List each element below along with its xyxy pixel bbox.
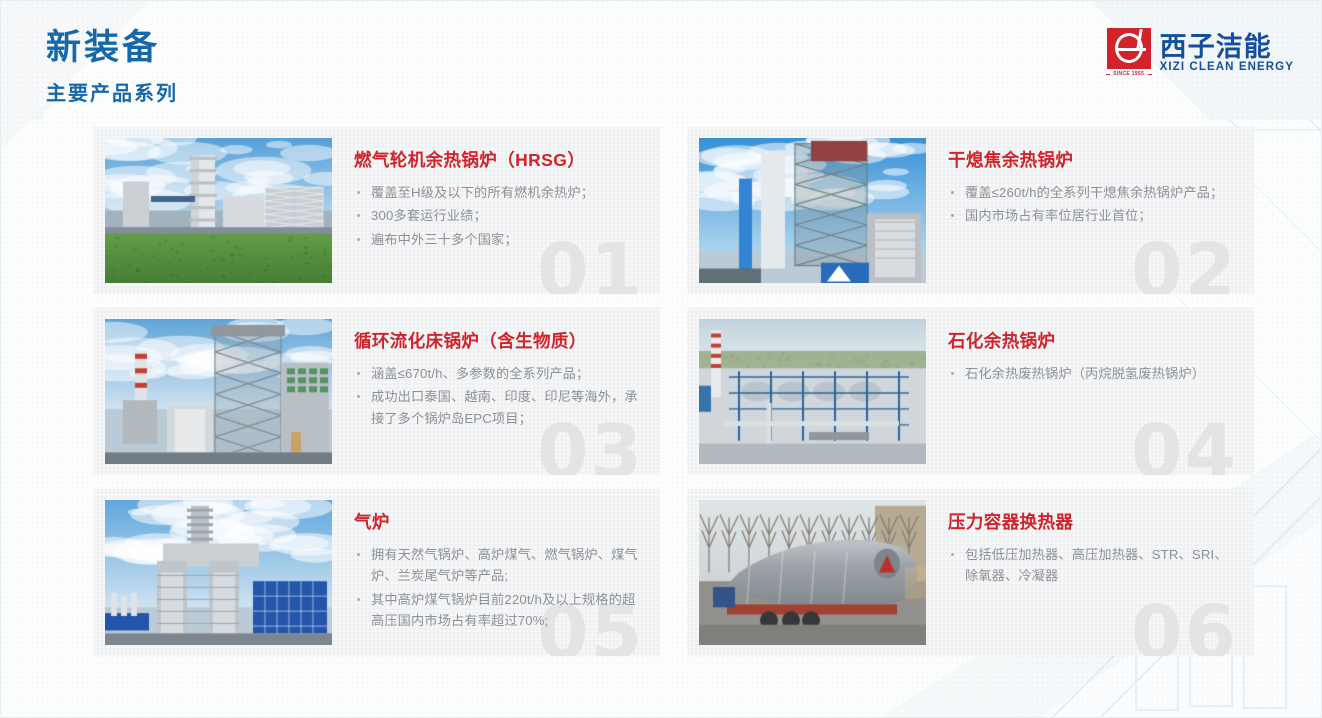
gas-fired-boiler-plant-photo[interactable] (105, 500, 332, 645)
card-bullet-list: 石化余热废热锅炉（丙烷脱氢废热锅炉） (948, 363, 1236, 386)
pressure-vessel-transport-photo[interactable] (699, 500, 926, 645)
card-bullet-list: 包括低压加热器、高压加热器、STR、SRI、除氧器、冷凝器 (948, 544, 1236, 589)
page-title: 新装备 (46, 30, 160, 65)
product-card[interactable]: 02干熄焦余热锅炉覆盖≤260t/h的全系列干熄焦余热锅炉产品；国内市场占有率位… (688, 127, 1254, 294)
card-body: 干熄焦余热锅炉覆盖≤260t/h的全系列干熄焦余热锅炉产品；国内市场占有率位居行… (926, 127, 1254, 294)
card-body: 压力容器换热器包括低压加热器、高压加热器、STR、SRI、除氧器、冷凝器 (926, 489, 1254, 656)
page-subtitle: 主要产品系列 (46, 84, 178, 104)
card-bullet-item: 石化余热废热锅炉（丙烷脱氢废热锅炉） (948, 363, 1236, 384)
coke-dry-quenching-plant-photo[interactable] (699, 138, 926, 283)
card-title: 干熄焦余热锅炉 (948, 150, 1236, 171)
card-body: 石化余热锅炉石化余热废热锅炉（丙烷脱氢废热锅炉） (926, 308, 1254, 475)
card-bullet-item: 遍布中外三十多个国家； (354, 229, 642, 250)
card-bullet-item: 国内市场占有率位居行业首位； (948, 205, 1236, 226)
card-body: 循环流化床锅炉（含生物质）涵盖≤670t/h、多参数的全系列产品；成功出口泰国、… (332, 308, 660, 475)
logo-since-text: SINCE 1955 (1107, 71, 1151, 77)
card-bullet-item: 300多套运行业绩； (354, 205, 642, 226)
product-card[interactable]: 03循环流化床锅炉（含生物质）涵盖≤670t/h、多参数的全系列产品；成功出口泰… (94, 308, 660, 475)
card-body: 燃气轮机余热锅炉（HRSG）覆盖至H级及以下的所有燃机余热炉；300多套运行业绩… (332, 127, 660, 294)
card-bullet-list: 覆盖至H级及以下的所有燃机余热炉；300多套运行业绩；遍布中外三十多个国家； (354, 182, 642, 252)
product-card[interactable]: 01燃气轮机余热锅炉（HRSG）覆盖至H级及以下的所有燃机余热炉；300多套运行… (94, 127, 660, 294)
card-bullet-list: 覆盖≤260t/h的全系列干熄焦余热锅炉产品；国内市场占有率位居行业首位； (948, 182, 1236, 229)
logo-name-en: XIZI CLEAN ENERGY (1160, 61, 1294, 75)
card-bullet-list: 涵盖≤670t/h、多参数的全系列产品；成功出口泰国、越南、印度、印尼等海外，承… (354, 363, 642, 431)
product-card[interactable]: 04石化余热锅炉石化余热废热锅炉（丙烷脱氢废热锅炉） (688, 308, 1254, 475)
card-title: 气炉 (354, 512, 642, 533)
company-logo: SINCE 1955 西子洁能 XIZI CLEAN ENERGY (1107, 28, 1294, 80)
card-bullet-list: 拥有天然气锅炉、高炉煤气、燃气锅炉、煤气炉、兰炭尾气炉等产品;其中高炉煤气锅炉目… (354, 544, 642, 634)
card-body: 气炉拥有天然气锅炉、高炉煤气、燃气锅炉、煤气炉、兰炭尾气炉等产品;其中高炉煤气锅… (332, 489, 660, 656)
slide-header: 新装备 主要产品系列 SINCE 1955 西子洁能 XIZI CLEAN EN… (0, 0, 1322, 120)
petrochemical-waste-heat-plant-photo[interactable] (699, 319, 926, 464)
gas-turbine-hrsg-plant-photo[interactable] (105, 138, 332, 283)
card-bullet-item: 拥有天然气锅炉、高炉煤气、燃气锅炉、煤气炉、兰炭尾气炉等产品; (354, 544, 642, 587)
product-card-grid: 01燃气轮机余热锅炉（HRSG）覆盖至H级及以下的所有燃机余热炉；300多套运行… (94, 127, 1254, 655)
slide: 新装备 主要产品系列 SINCE 1955 西子洁能 XIZI CLEAN EN… (0, 0, 1322, 718)
card-title: 燃气轮机余热锅炉（HRSG） (354, 150, 642, 171)
logo-wordmark: 西子洁能 XIZI CLEAN ENERGY (1160, 33, 1294, 75)
card-bullet-item: 其中高炉煤气锅炉目前220t/h及以上规格的超高压国内市场占有率超过70%; (354, 589, 642, 632)
product-card[interactable]: 06压力容器换热器包括低压加热器、高压加热器、STR、SRI、除氧器、冷凝器 (688, 489, 1254, 656)
card-bullet-item: 涵盖≤670t/h、多参数的全系列产品； (354, 363, 642, 384)
logo-e-monogram-icon (1115, 33, 1143, 63)
card-bullet-item: 覆盖至H级及以下的所有燃机余热炉； (354, 182, 642, 203)
logo-name-cn: 西子洁能 (1160, 33, 1294, 61)
card-bullet-item: 成功出口泰国、越南、印度、印尼等海外，承接了多个锅炉岛EPC项目； (354, 386, 642, 429)
cfb-boiler-plant-photo[interactable] (105, 319, 332, 464)
product-card[interactable]: 05气炉拥有天然气锅炉、高炉煤气、燃气锅炉、煤气炉、兰炭尾气炉等产品;其中高炉煤… (94, 489, 660, 656)
card-title: 压力容器换热器 (948, 512, 1236, 533)
card-bullet-item: 覆盖≤260t/h的全系列干熄焦余热锅炉产品； (948, 182, 1236, 203)
card-title: 石化余热锅炉 (948, 331, 1236, 352)
card-title: 循环流化床锅炉（含生物质） (354, 331, 642, 352)
card-bullet-item: 包括低压加热器、高压加热器、STR、SRI、除氧器、冷凝器 (948, 544, 1236, 587)
logo-mark: SINCE 1955 (1107, 28, 1151, 80)
